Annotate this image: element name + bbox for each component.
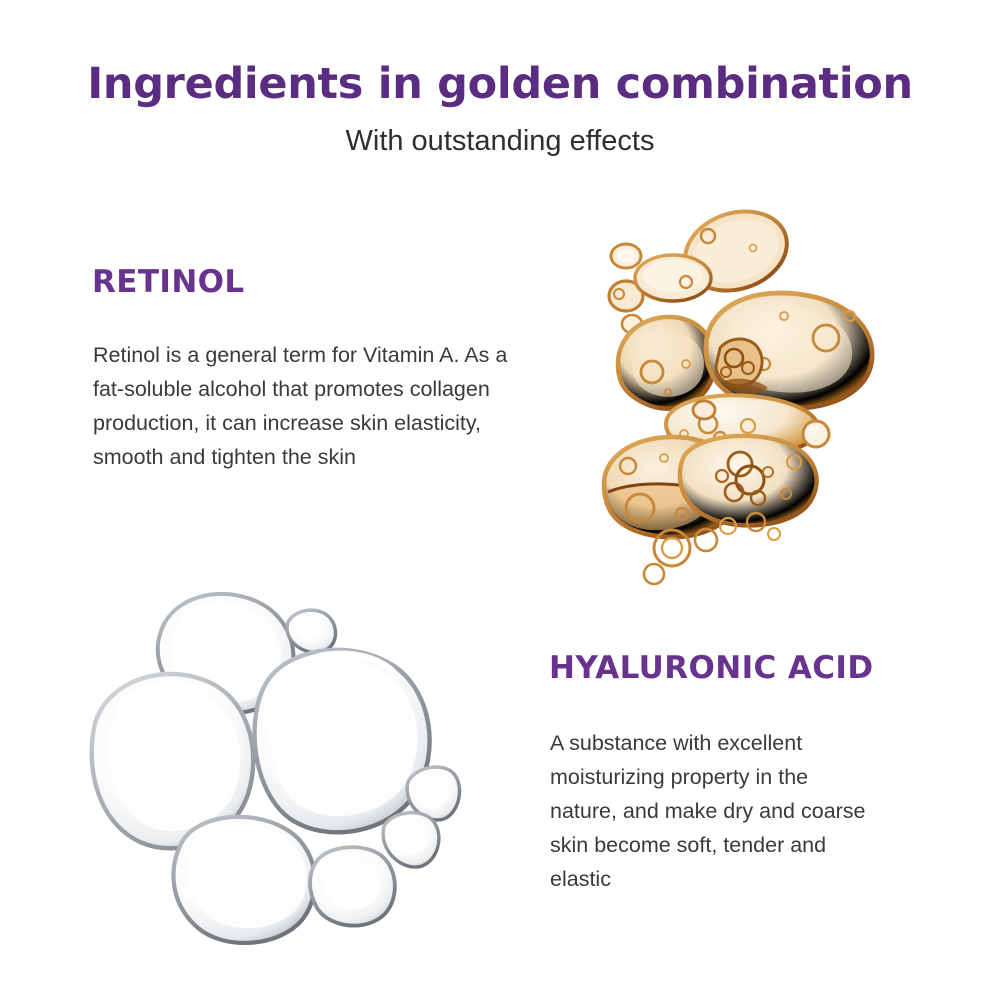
page-title: Ingredients in golden combination (0, 60, 1000, 109)
section-heading-hyaluronic-acid: HYALURONIC ACID (549, 650, 874, 686)
section-heading-retinol: RETINOL (92, 264, 245, 300)
page-subtitle: With outstanding effects (0, 124, 1000, 159)
section-body-hyaluronic-acid: A substance with excellent moisturizing … (550, 726, 880, 896)
clear-water-bubbles-image (72, 580, 484, 956)
infographic-canvas: Ingredients in golden combination With o… (0, 0, 1000, 1000)
golden-oil-bubbles-image (588, 196, 898, 596)
section-body-retinol: Retinol is a general term for Vitamin A.… (93, 338, 523, 474)
